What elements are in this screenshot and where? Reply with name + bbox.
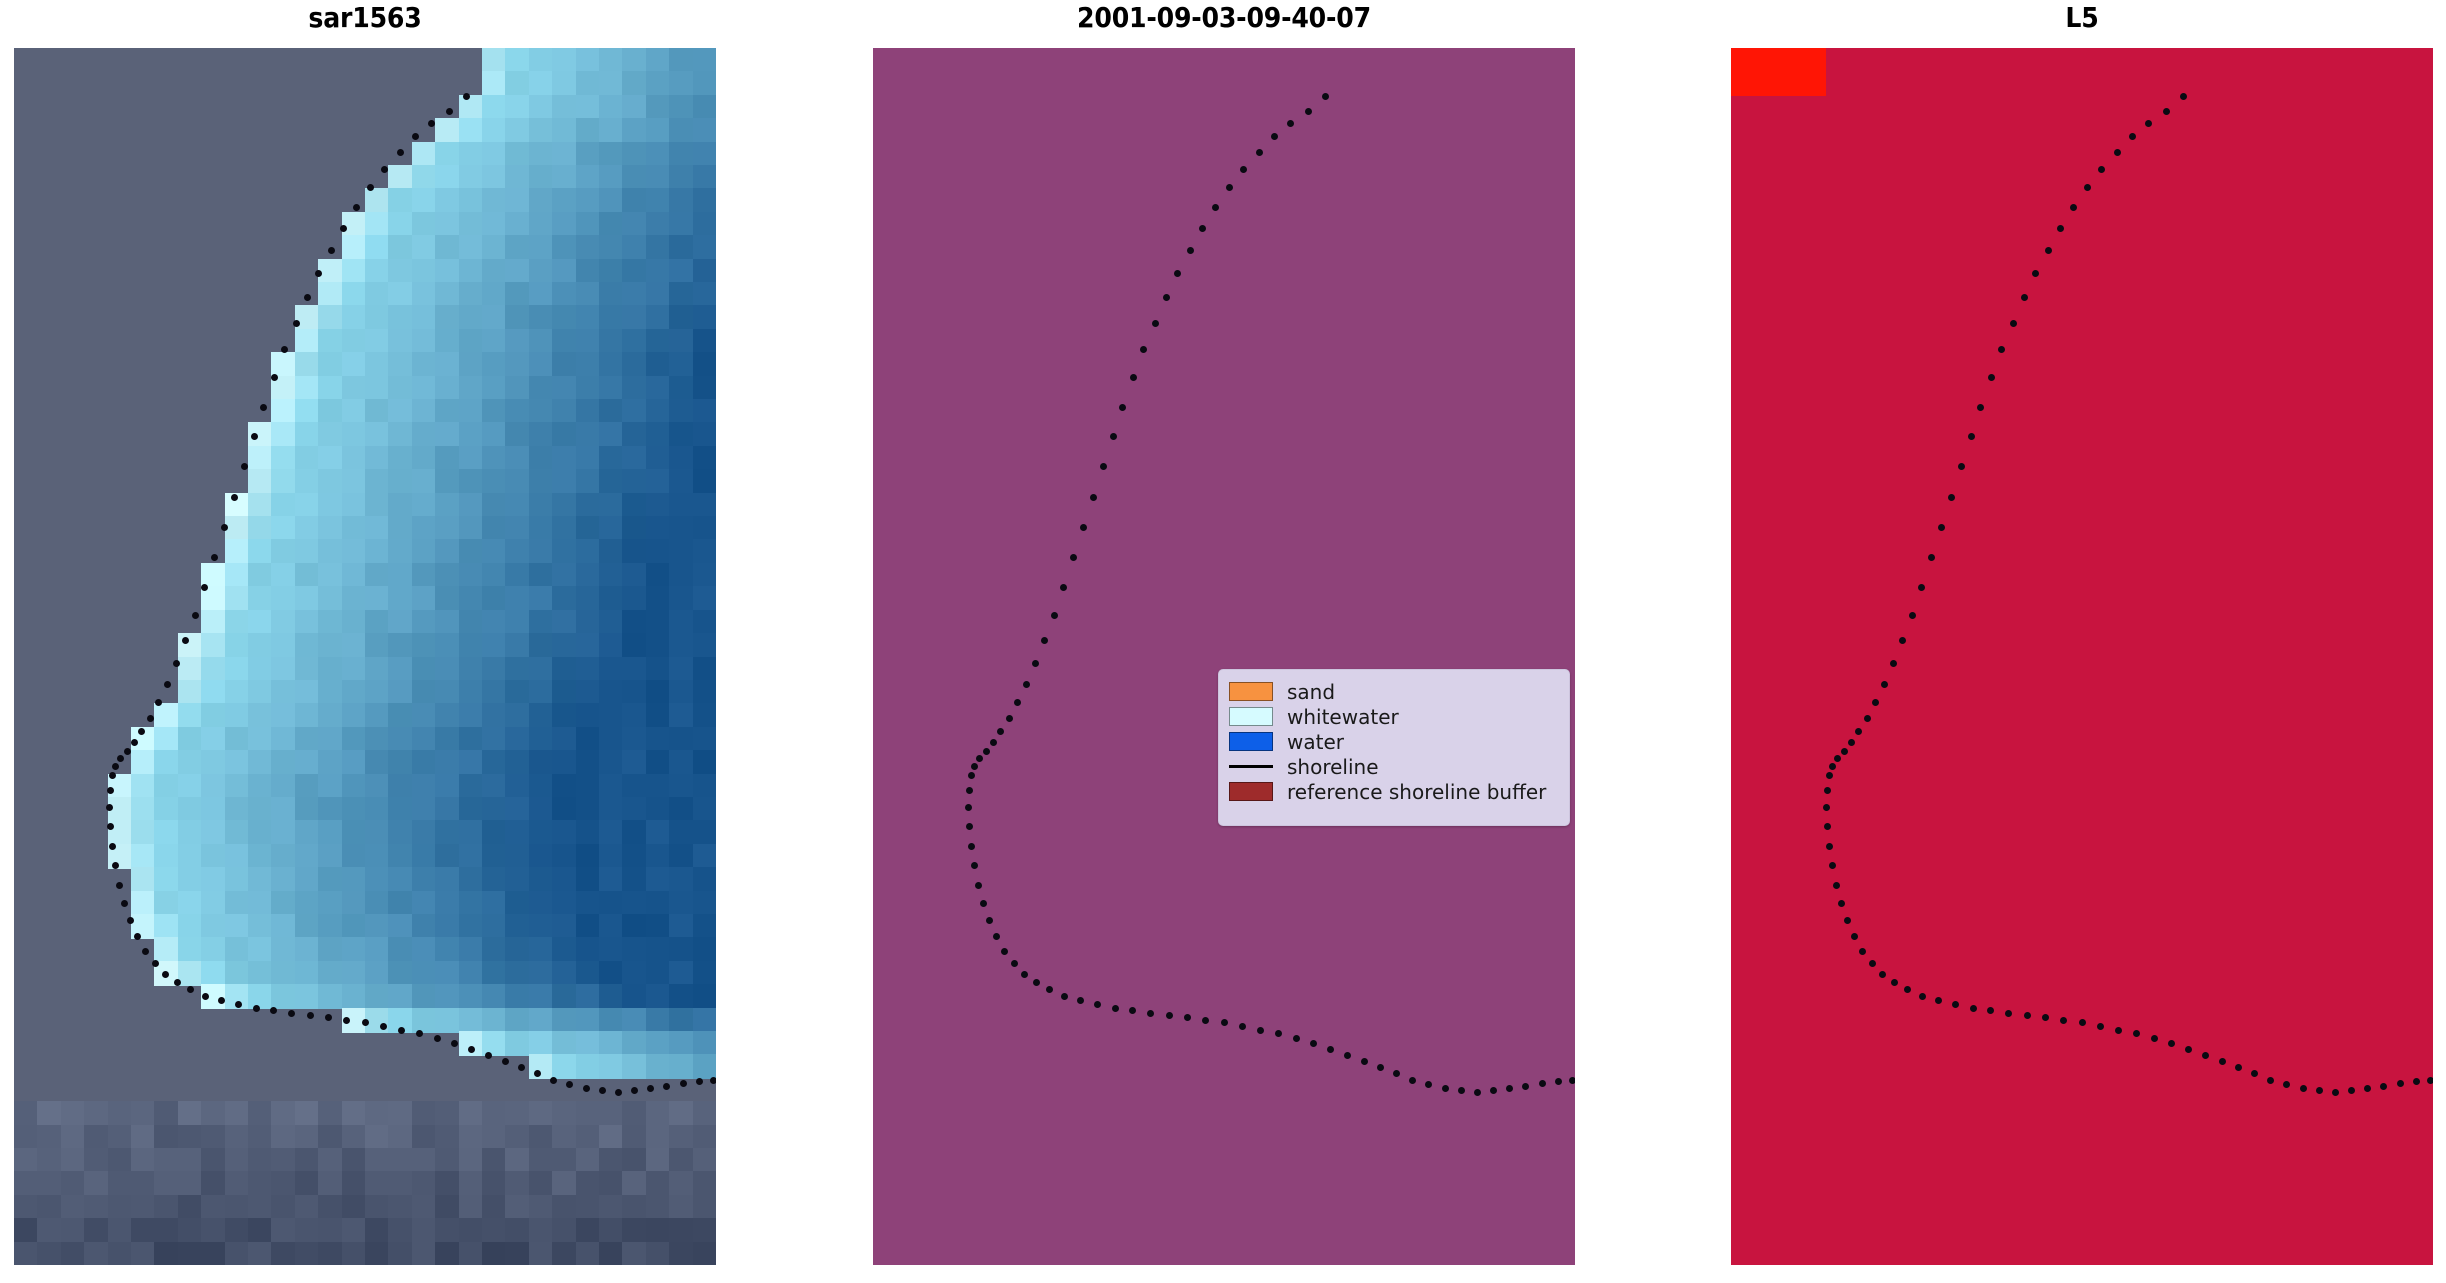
raster-cell [1318,1125,1343,1150]
raster-cell [2012,914,2037,939]
raster-cell [459,352,484,377]
raster-cell [1942,1148,1967,1173]
raster-cell [1895,1008,1920,1033]
shoreline-dot [1569,1077,1575,1084]
raster-cell [1965,1195,1990,1220]
raster-cell [388,352,413,377]
raster-cell [61,212,86,237]
raster-cell [2129,703,2154,728]
raster-cell [2316,1101,2341,1126]
raster-cell [365,282,390,307]
raster-cell [342,469,367,494]
raster-cell [1481,1054,1506,1079]
raster-cell [2316,727,2341,752]
raster-cell [201,914,226,939]
raster-cell [37,71,62,96]
raster-cell [1801,774,1826,799]
raster-cell [1942,820,1967,845]
raster-cell [2035,1195,2060,1220]
raster-cell [1154,212,1179,237]
raster-cell [1895,493,1920,518]
raster-cell [943,329,968,354]
raster-cell [1037,212,1062,237]
raster-cell [1942,937,1967,962]
raster-cell [1825,633,1850,658]
raster-cell [2339,610,2364,635]
raster-cell [1895,305,1920,330]
legend-label-shoreline: shoreline [1287,755,1379,779]
raster-cell [1224,633,1249,658]
raster-cell [154,399,179,424]
raster-cell [131,891,156,916]
raster-cell [225,259,250,284]
raster-cell [2152,71,2177,96]
raster-cell [84,118,109,143]
raster-cell [2012,422,2037,447]
raster-cell [2269,142,2294,167]
raster-cell [529,48,554,73]
raster-cell [1037,95,1062,120]
raster-cell [2129,493,2154,518]
raster-cell [1388,212,1413,237]
raster-cell [1318,493,1343,518]
raster-cell [154,469,179,494]
raster-cell [1754,95,1779,120]
raster-cell [1731,563,1756,588]
raster-cell [482,188,507,213]
raster-cell [1130,516,1155,541]
raster-cell [1871,867,1896,892]
raster-cell [2316,1031,2341,1056]
raster-cell [2339,376,2364,401]
raster-cell [1754,1242,1779,1265]
raster-cell [1364,422,1389,447]
raster-cell [669,1218,694,1243]
raster-cell [920,352,945,377]
raster-cell [14,750,39,775]
raster-cell [576,1125,601,1150]
raster-cell [646,142,671,167]
raster-cell [154,71,179,96]
raster-cell [943,165,968,190]
raster-cell [896,657,921,682]
raster-cell [1084,212,1109,237]
raster-cell [920,469,945,494]
raster-cell [435,1171,460,1196]
raster-cell [990,633,1015,658]
raster-cell [61,1171,86,1196]
raster-cell [318,376,343,401]
raster-cell [1988,235,2013,260]
raster-cell [1942,1242,1967,1265]
raster-cell [1778,610,1803,635]
raster-cell [1754,1195,1779,1220]
raster-cell [1778,1218,1803,1243]
raster-cell [295,820,320,845]
raster-cell [1895,1171,1920,1196]
raster-cell [1388,352,1413,377]
raster-cell [1411,329,1436,354]
raster-cell [388,305,413,330]
raster-cell [1013,563,1038,588]
raster-cell [1224,1078,1249,1103]
raster-cell [108,376,133,401]
raster-cell [482,914,507,939]
raster-cell [646,422,671,447]
raster-cell [1084,867,1109,892]
raster-cell [1552,1031,1575,1056]
raster-cell [693,212,716,237]
raster-cell [873,891,898,916]
raster-cell [178,1148,203,1173]
raster-cell [529,820,554,845]
raster-cell [1341,914,1366,939]
raster-cell [1084,235,1109,260]
raster-cell [388,516,413,541]
raster-cell [552,71,577,96]
raster-cell [920,984,945,1009]
raster-cell [2176,820,2201,845]
raster-cell [84,797,109,822]
raster-cell [61,633,86,658]
raster-cell [1177,1101,1202,1126]
raster-cell [388,1242,413,1265]
raster-cell [920,142,945,167]
raster-cell [1201,1242,1226,1265]
raster-cell [1754,516,1779,541]
raster-cell [1107,399,1132,424]
raster-cell [225,329,250,354]
raster-cell [2059,1242,2084,1265]
raster-cell [622,1148,647,1173]
raster-cell [1294,844,1319,869]
raster-cell [201,446,226,471]
raster-cell [529,844,554,869]
raster-cell [2269,212,2294,237]
raster-cell [1918,165,1943,190]
raster-cell [1871,1242,1896,1265]
raster-cell [1825,1242,1850,1265]
raster-cell [2012,1031,2037,1056]
raster-cell [2152,1125,2177,1150]
raster-cell [1481,142,1506,167]
raster-cell [2059,1148,2084,1173]
raster-cell [1505,1218,1530,1243]
raster-cell [131,1008,156,1033]
raster-cell [2386,1101,2411,1126]
raster-cell [84,914,109,939]
raster-cell [669,352,694,377]
raster-cell [693,703,716,728]
raster-cell [990,984,1015,1009]
raster-cell [248,282,273,307]
raster-cell [1013,1218,1038,1243]
raster-cell [990,469,1015,494]
raster-cell [61,937,86,962]
raster-cell [576,282,601,307]
raster-cell [693,1195,716,1220]
raster-cell [1825,352,1850,377]
raster-cell [1084,399,1109,424]
raster-cell [552,212,577,237]
raster-cell [1825,1148,1850,1173]
raster-cell [1848,1171,1873,1196]
raster-cell [896,750,921,775]
raster-cell [1505,586,1530,611]
raster-cell [2246,1125,2271,1150]
raster-cell [1825,937,1850,962]
raster-cell [201,937,226,962]
raster-cell [1731,235,1756,260]
raster-cell [2199,1218,2224,1243]
raster-cell [1848,797,1873,822]
raster-cell [248,586,273,611]
raster-cell [201,1078,226,1103]
raster-cell [873,469,898,494]
raster-cell [576,914,601,939]
raster-cell [693,774,716,799]
raster-cell [1965,750,1990,775]
raster-cell [178,235,203,260]
raster-cell [1388,563,1413,588]
raster-cell [1388,469,1413,494]
raster-cell [599,984,624,1009]
raster-cell [318,1031,343,1056]
raster-cell [1895,563,1920,588]
raster-cell [1942,610,1967,635]
raster-cell [131,1171,156,1196]
raster-cell [2293,797,2318,822]
raster-cell [2410,680,2433,705]
raster-cell [1224,539,1249,564]
raster-cell [529,352,554,377]
raster-cell [2316,539,2341,564]
raster-cell [1318,891,1343,916]
raster-cell [693,961,716,986]
raster-cell [505,493,530,518]
raster-cell [529,797,554,822]
raster-cell [1988,399,2013,424]
raster-cell [248,937,273,962]
raster-cell [14,352,39,377]
raster-cell [225,1242,250,1265]
raster-cell [271,469,296,494]
raster-cell [2105,1242,2130,1265]
raster-cell [1528,376,1553,401]
raster-cell [2105,399,2130,424]
raster-cell [84,563,109,588]
raster-cell [896,586,921,611]
raster-cell [318,399,343,424]
raster-cell [154,633,179,658]
raster-cell [920,633,945,658]
raster-cell [920,422,945,447]
raster-cell [2082,891,2107,916]
raster-cell [1871,118,1896,143]
raster-cell [154,446,179,471]
raster-cell [552,165,577,190]
raster-cell [1552,493,1575,518]
raster-cell [225,165,250,190]
raster-cell [1037,539,1062,564]
raster-cell [1201,305,1226,330]
raster-cell [2152,1054,2177,1079]
raster-cell [646,95,671,120]
raster-cell [2012,352,2037,377]
raster-cell [2152,610,2177,635]
raster-cell [2269,1171,2294,1196]
raster-cell [1848,891,1873,916]
raster-cell [2246,750,2271,775]
raster-cell [225,48,250,73]
raster-cell [1848,657,1873,682]
raster-cell [1130,118,1155,143]
raster-cell [1801,797,1826,822]
raster-cell [1084,937,1109,962]
raster-cell [1294,446,1319,471]
raster-cell [482,797,507,822]
raster-cell [2363,984,2388,1009]
raster-cell [388,610,413,635]
raster-cell [1318,1242,1343,1265]
raster-cell [1060,867,1085,892]
raster-cell [1060,774,1085,799]
raster-cell [1848,586,1873,611]
raster-cell [2152,539,2177,564]
raster-cell [967,235,992,260]
raster-cell [2129,376,2154,401]
raster-cell [2386,516,2411,541]
raster-cell [435,961,460,986]
raster-cell [2246,680,2271,705]
raster-cell [2410,376,2433,401]
raster-cell [388,586,413,611]
raster-cell [1988,586,2013,611]
raster-cell [1825,259,1850,284]
raster-cell [896,633,921,658]
raster-cell [1201,282,1226,307]
raster-cell [1848,212,1873,237]
raster-cell [1224,1054,1249,1079]
raster-cell [1013,516,1038,541]
shoreline-dot [353,204,360,211]
raster-cell [943,48,968,73]
raster-cell [2339,95,2364,120]
shoreline-dot [1090,494,1097,501]
raster-cell [1411,867,1436,892]
raster-cell [1965,399,1990,424]
raster-cell [1895,516,1920,541]
raster-cell [2176,610,2201,635]
raster-cell [2222,352,2247,377]
raster-cell [2316,1171,2341,1196]
raster-cell [1247,1078,1272,1103]
raster-cell [646,844,671,869]
raster-cell [622,563,647,588]
raster-cell [1825,703,1850,728]
raster-cell [2199,1078,2224,1103]
raster-cell [2316,516,2341,541]
raster-cell [1411,937,1436,962]
raster-cell [1341,352,1366,377]
raster-cell [108,305,133,330]
raster-cell [967,1008,992,1033]
raster-cell [318,1171,343,1196]
shoreline-dot [990,739,997,746]
raster-cell [201,680,226,705]
raster-cell [1341,937,1366,962]
raster-cell [1848,376,1873,401]
raster-cell [201,422,226,447]
raster-cell [1154,1101,1179,1126]
raster-cell [1177,282,1202,307]
raster-cell [599,1171,624,1196]
raster-cell [154,914,179,939]
raster-cell [2363,1148,2388,1173]
raster-cell [412,376,437,401]
raster-cell [1388,1171,1413,1196]
raster-cell [2152,774,2177,799]
raster-cell [896,352,921,377]
raster-cell [2035,493,2060,518]
raster-cell [1341,422,1366,447]
raster-cell [1825,539,1850,564]
raster-cell [2129,1008,2154,1033]
raster-cell [2363,961,2388,986]
raster-cell [920,1101,945,1126]
raster-cell [1942,1008,1967,1033]
raster-cell [2082,1031,2107,1056]
raster-cell [295,446,320,471]
raster-cell [1271,48,1296,73]
raster-cell [1731,1195,1756,1220]
raster-cell [1942,1218,1967,1243]
raster-cell [248,1078,273,1103]
raster-cell [2082,1171,2107,1196]
raster-cell [1481,1242,1506,1265]
raster-cell [622,961,647,986]
raster-cell [1505,844,1530,869]
raster-cell [295,376,320,401]
raster-cell [1552,469,1575,494]
raster-cell [1318,937,1343,962]
raster-cell [1505,48,1530,73]
raster-cell [1801,750,1826,775]
raster-cell [599,516,624,541]
raster-cell [646,1101,671,1126]
raster-cell [342,142,367,167]
raster-cell [2410,610,2433,635]
raster-cell [1871,727,1896,752]
raster-cell [576,891,601,916]
raster-cell [2339,329,2364,354]
raster-cell [1988,657,2013,682]
raster-cell [131,1125,156,1150]
raster-cell [2105,212,2130,237]
raster-cell [1778,774,1803,799]
raster-cell [1364,1242,1389,1265]
shoreline-dot [971,763,978,770]
raster-cell [61,352,86,377]
raster-cell [2386,1195,2411,1220]
raster-cell [1388,282,1413,307]
raster-cell [2316,844,2341,869]
raster-cell [271,867,296,892]
raster-cell [1435,1218,1460,1243]
raster-cell [271,1242,296,1265]
raster-cell [576,188,601,213]
raster-cell [505,118,530,143]
